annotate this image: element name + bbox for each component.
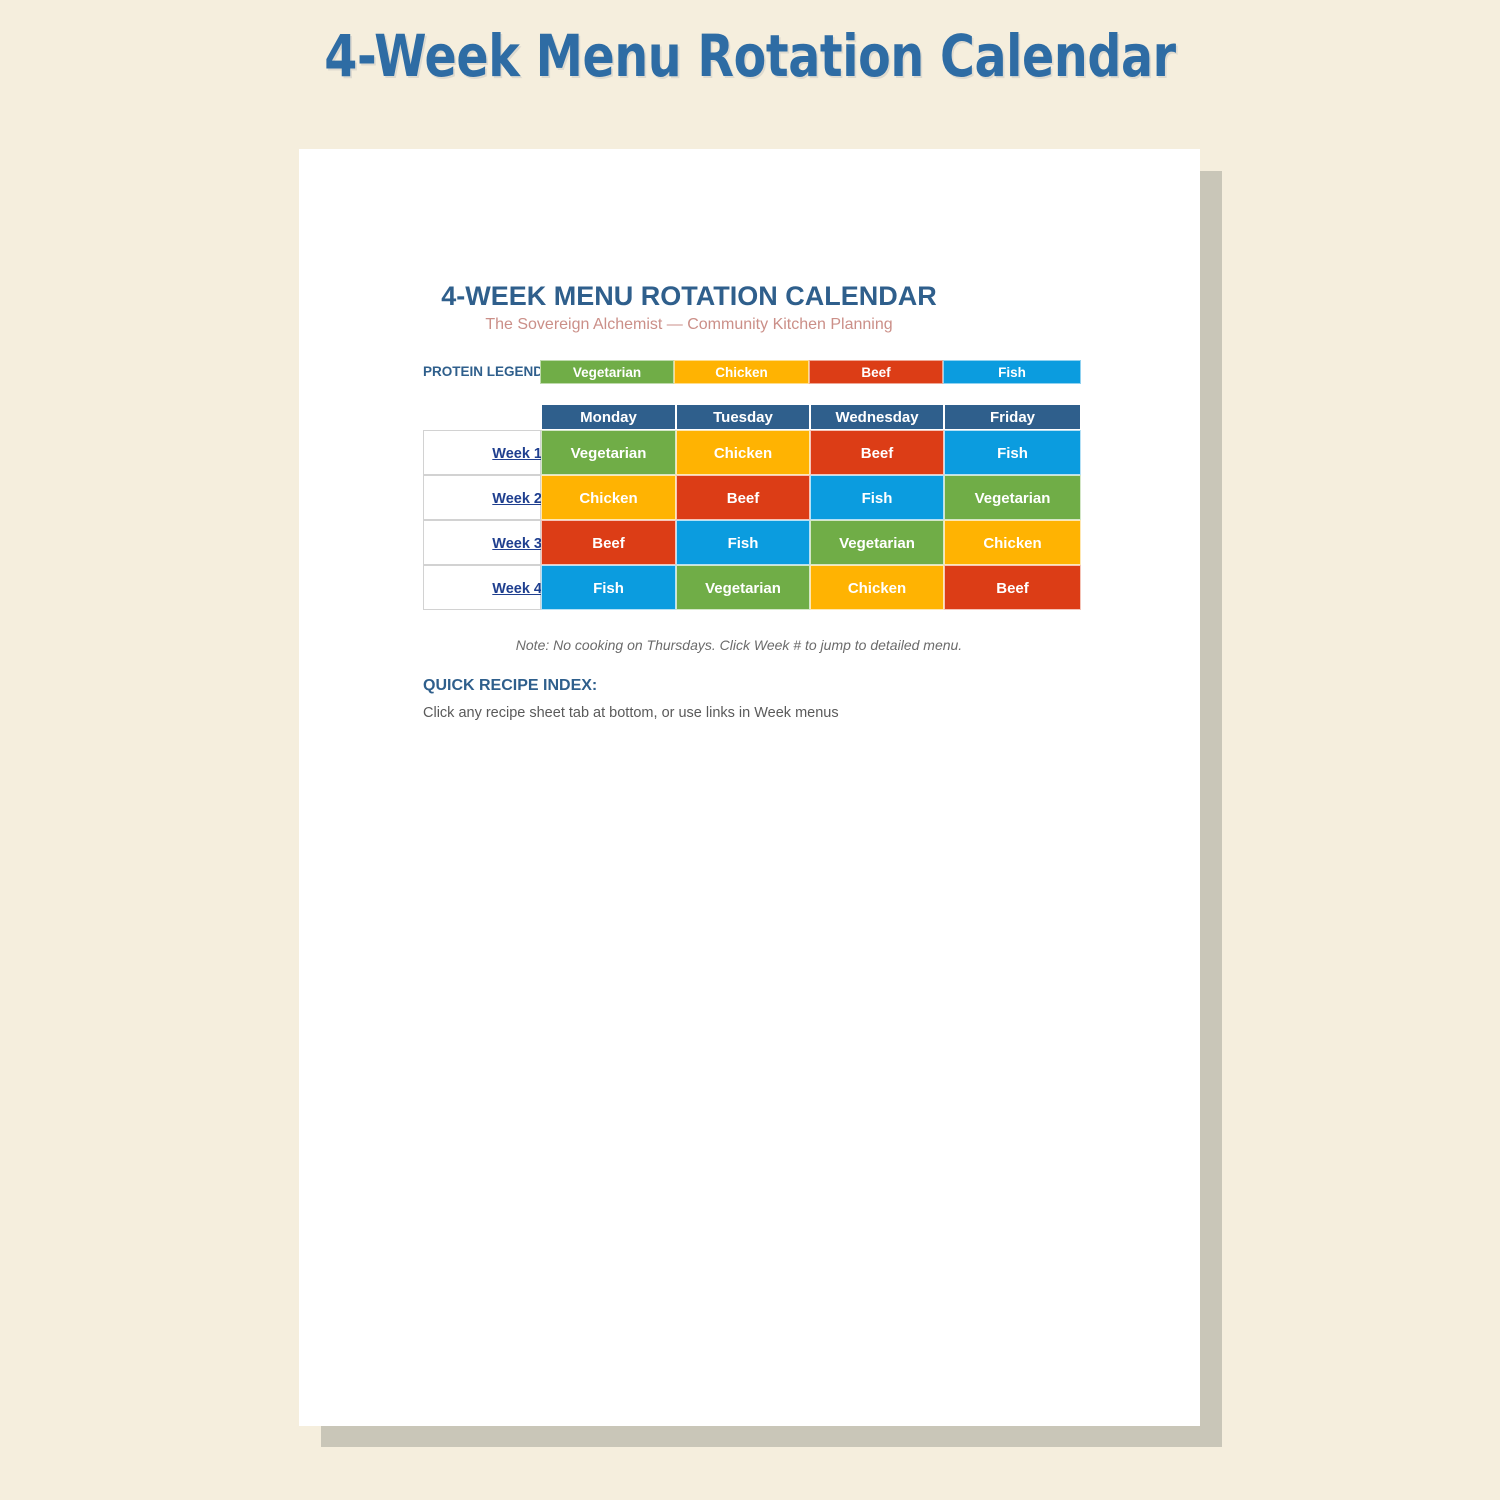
legend-swatch-chicken: Chicken [674,360,809,384]
quick-recipe-index-text: Click any recipe sheet tab at bottom, or… [423,705,839,721]
page-title: 4-Week Menu Rotation Calendar [135,22,1365,90]
cell-week1-tuesday[interactable]: Chicken [676,430,810,475]
cell-week4-wednesday[interactable]: Chicken [810,565,944,610]
column-header-monday: Monday [541,404,676,430]
table-row-label-week-2: Week 2 [423,475,541,520]
legend-swatch-beef: Beef [809,360,943,384]
week-4-link[interactable]: Week 4 [492,581,542,597]
column-header-wednesday: Wednesday [810,404,944,430]
cell-week3-friday[interactable]: Chicken [944,520,1081,565]
cell-week1-wednesday[interactable]: Beef [810,430,944,475]
cell-week2-tuesday[interactable]: Beef [676,475,810,520]
legend-swatch-vegetarian: Vegetarian [540,360,674,384]
week-1-link[interactable]: Week 1 [492,446,542,462]
column-header-tuesday: Tuesday [676,404,810,430]
cell-week4-monday[interactable]: Fish [541,565,676,610]
document-subtitle: The Sovereign Alchemist — Community Kitc… [299,316,1079,334]
cell-week4-tuesday[interactable]: Vegetarian [676,565,810,610]
legend-swatch-fish: Fish [943,360,1081,384]
cell-week3-tuesday[interactable]: Fish [676,520,810,565]
document-page: 4-WEEK MENU ROTATION CALENDAR The Sovere… [299,149,1200,1426]
cell-week2-monday[interactable]: Chicken [541,475,676,520]
protein-legend-label: PROTEIN LEGEND: [423,360,540,384]
cell-week1-friday[interactable]: Fish [944,430,1081,475]
table-row-label-week-4: Week 4 [423,565,541,610]
table-row-label-week-3: Week 3 [423,520,541,565]
cell-week2-wednesday[interactable]: Fish [810,475,944,520]
document-content: 4-WEEK MENU ROTATION CALENDAR The Sovere… [299,149,1200,1426]
cell-week4-friday[interactable]: Beef [944,565,1081,610]
cell-week2-friday[interactable]: Vegetarian [944,475,1081,520]
cell-week3-monday[interactable]: Beef [541,520,676,565]
cell-week3-wednesday[interactable]: Vegetarian [810,520,944,565]
table-note: Note: No cooking on Thursdays. Click Wee… [299,637,1179,653]
cell-week1-monday[interactable]: Vegetarian [541,430,676,475]
column-header-friday: Friday [944,404,1081,430]
document-title: 4-WEEK MENU ROTATION CALENDAR [299,281,1079,312]
week-2-link[interactable]: Week 2 [492,491,542,507]
quick-recipe-index-heading: QUICK RECIPE INDEX: [423,677,597,695]
table-row-label-week-1: Week 1 [423,430,541,475]
week-3-link[interactable]: Week 3 [492,536,542,552]
